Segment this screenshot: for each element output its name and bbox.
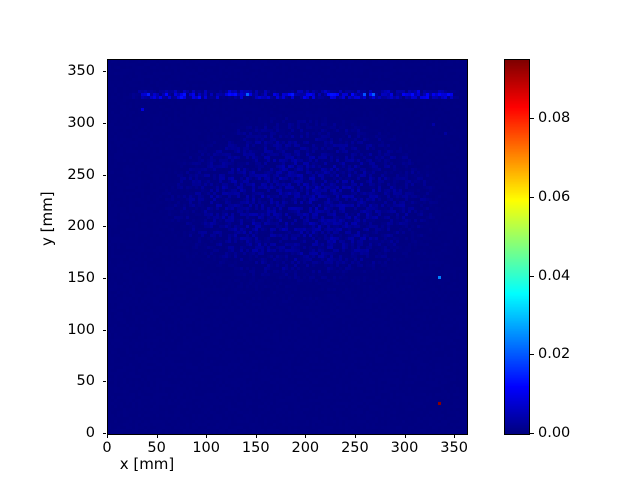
heatmap-image: [108, 60, 467, 434]
colorbar-axes: [504, 59, 530, 435]
y-tick-mark: [103, 330, 107, 331]
colorbar-tick-mark: [530, 118, 534, 119]
x-axis-label: x [mm]: [0, 455, 640, 473]
colorbar-tick-label: 0.02: [538, 346, 570, 362]
x-tick-label: 150: [242, 441, 270, 456]
x-tick-mark: [454, 434, 455, 438]
y-tick-label: 300: [67, 116, 95, 131]
y-tick-mark: [103, 433, 107, 434]
x-tick-label: 100: [192, 441, 220, 456]
y-axis-label-text: y [mm]: [38, 191, 56, 246]
y-tick-mark: [103, 123, 107, 124]
y-tick-mark: [103, 175, 107, 176]
y-tick-label: 50: [77, 374, 95, 389]
x-tick-label: 250: [341, 441, 369, 456]
y-tick-mark: [103, 381, 107, 382]
x-tick-mark: [355, 434, 356, 438]
figure-canvas: images it32 050100150200250300350 050100…: [0, 0, 640, 480]
y-tick-mark: [103, 226, 107, 227]
heatmap-axes: images it32: [107, 59, 468, 435]
x-tick-mark: [405, 434, 406, 438]
colorbar-tick-label: 0.04: [538, 268, 570, 284]
colorbar-tick-mark: [530, 354, 534, 355]
y-tick-mark: [103, 71, 107, 72]
x-tick-label: 200: [291, 441, 319, 456]
x-tick-label: 50: [147, 441, 165, 456]
colorbar-gradient: [505, 60, 529, 434]
colorbar-tick-label: 0.08: [538, 110, 570, 126]
colorbar-tick-mark: [530, 197, 534, 198]
y-tick-label: 0: [86, 426, 95, 441]
x-axis-label-text: x [mm]: [120, 455, 175, 473]
x-tick-label: 0: [102, 441, 111, 456]
colorbar-tick-label: 0.06: [538, 189, 570, 205]
x-tick-label: 350: [440, 441, 468, 456]
y-tick-label: 150: [67, 271, 95, 286]
x-tick-mark: [305, 434, 306, 438]
x-tick-mark: [256, 434, 257, 438]
colorbar-tick-mark: [530, 433, 534, 434]
colorbar-tick-label: 0.00: [538, 425, 570, 441]
x-tick-mark: [107, 434, 108, 438]
y-tick-label: 200: [67, 219, 95, 234]
x-tick-mark: [157, 434, 158, 438]
y-tick-label: 250: [67, 167, 95, 182]
y-axis-label: y [mm]: [38, 191, 56, 246]
colorbar-tick-mark: [530, 276, 534, 277]
y-tick-label: 350: [67, 64, 95, 79]
y-tick-mark: [103, 278, 107, 279]
y-tick-label: 100: [67, 322, 95, 337]
x-tick-label: 300: [391, 441, 419, 456]
x-tick-mark: [206, 434, 207, 438]
